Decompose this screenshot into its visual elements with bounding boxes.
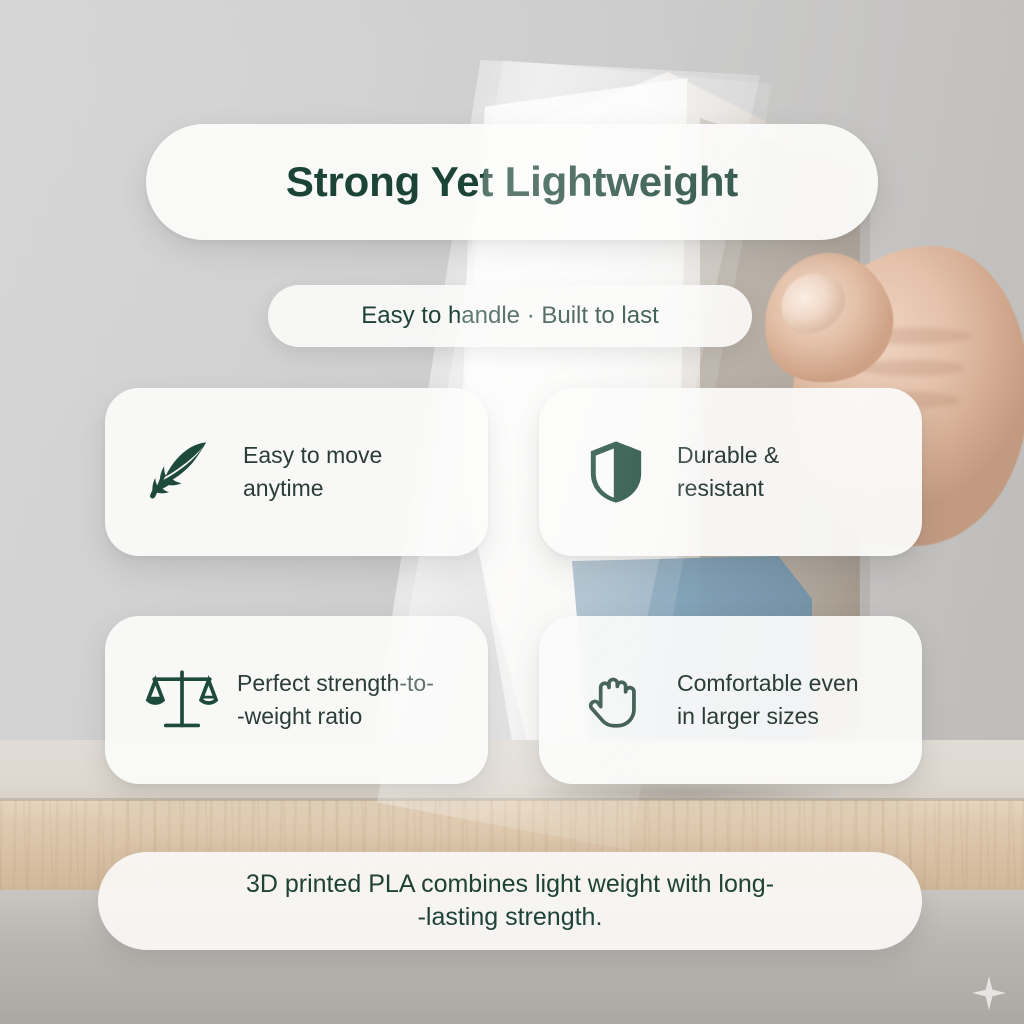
sparkle-icon [972, 976, 1006, 1010]
title-pill: Strong Yet Lightweight [146, 124, 878, 240]
feature-label: Durable & resistant [677, 439, 779, 505]
feature-label: Perfect strength-to- -weight ratio [237, 667, 434, 733]
feature-card-strength-weight-ratio[interactable]: Perfect strength-to- -weight ratio [105, 616, 488, 784]
footer-pill: 3D printed PLA combines light weight wit… [98, 852, 922, 950]
subtitle-pill: Easy to handle · Built to last [268, 285, 752, 347]
feature-label: Comfortable even in larger sizes [677, 667, 859, 733]
page-subtitle: Easy to handle · Built to last [361, 302, 659, 330]
feature-card-easy-to-move[interactable]: Easy to move anytime [105, 388, 488, 556]
shield-icon [577, 433, 655, 511]
feature-card-durable[interactable]: Durable & resistant [539, 388, 922, 556]
hand-icon [577, 661, 655, 739]
feature-card-comfortable[interactable]: Comfortable even in larger sizes [539, 616, 922, 784]
content-overlay: Strong Yet Lightweight Easy to handle · … [0, 0, 1024, 1024]
balance-scale-icon [143, 661, 221, 739]
footer-text: 3D printed PLA combines light weight wit… [246, 868, 774, 935]
feature-label: Easy to move anytime [243, 439, 382, 505]
page-title: Strong Yet Lightweight [286, 158, 738, 206]
feather-icon [143, 433, 221, 511]
